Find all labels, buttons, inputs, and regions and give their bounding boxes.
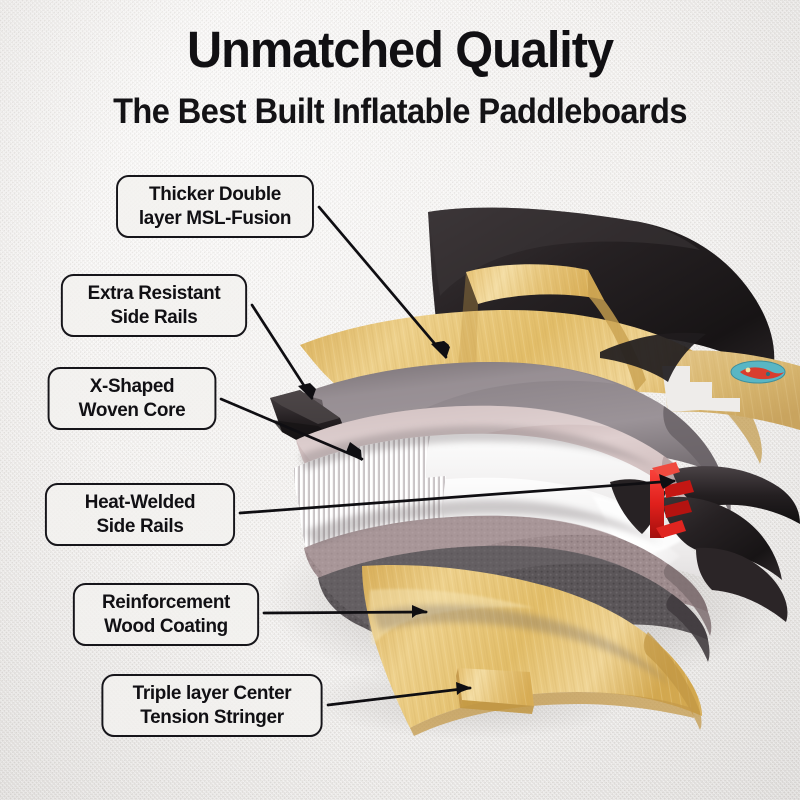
deck-logo [731, 361, 785, 383]
page-title: Unmatched Quality [18, 24, 782, 75]
callout-reinforcement-wood-coating[interactable]: Reinforcement Wood Coating [73, 583, 259, 646]
callout-1-line-1: Extra Resistant [88, 282, 221, 306]
callout-2-line-1: X-Shaped [79, 375, 186, 399]
callout-3-line-1: Heat-Welded [85, 491, 195, 515]
callout-0-line-1: Thicker Double [139, 183, 291, 207]
callout-4-line-1: Reinforcement [102, 591, 230, 615]
callout-1-line-2: Side Rails [88, 306, 221, 330]
callout-triple-layer-center-tension-stringer[interactable]: Triple layer Center Tension Stringer [101, 674, 322, 737]
callout-4-line-2: Wood Coating [102, 615, 230, 639]
page-subtitle: The Best Built Inflatable Paddleboards [28, 94, 772, 129]
callout-extra-resistant-side-rails[interactable]: Extra Resistant Side Rails [61, 274, 247, 337]
callout-2-line-2: Woven Core [79, 399, 186, 423]
header-block: Unmatched Quality The Best Built Inflata… [0, 0, 800, 129]
infographic-canvas: Unmatched Quality The Best Built Inflata… [0, 0, 800, 800]
callout-heat-welded-side-rails[interactable]: Heat-Welded Side Rails [45, 483, 235, 546]
layer-center-tension-stringer [456, 668, 534, 714]
callout-x-shaped-woven-core[interactable]: X-Shaped Woven Core [48, 367, 217, 430]
callout-0-line-2: layer MSL-Fusion [139, 207, 291, 231]
callout-5-line-2: Tension Stringer [133, 706, 292, 730]
callout-thicker-double-layer-msl-fusion[interactable]: Thicker Double layer MSL-Fusion [116, 175, 314, 238]
callout-3-line-2: Side Rails [85, 515, 195, 539]
callout-5-line-1: Triple layer Center [133, 682, 292, 706]
